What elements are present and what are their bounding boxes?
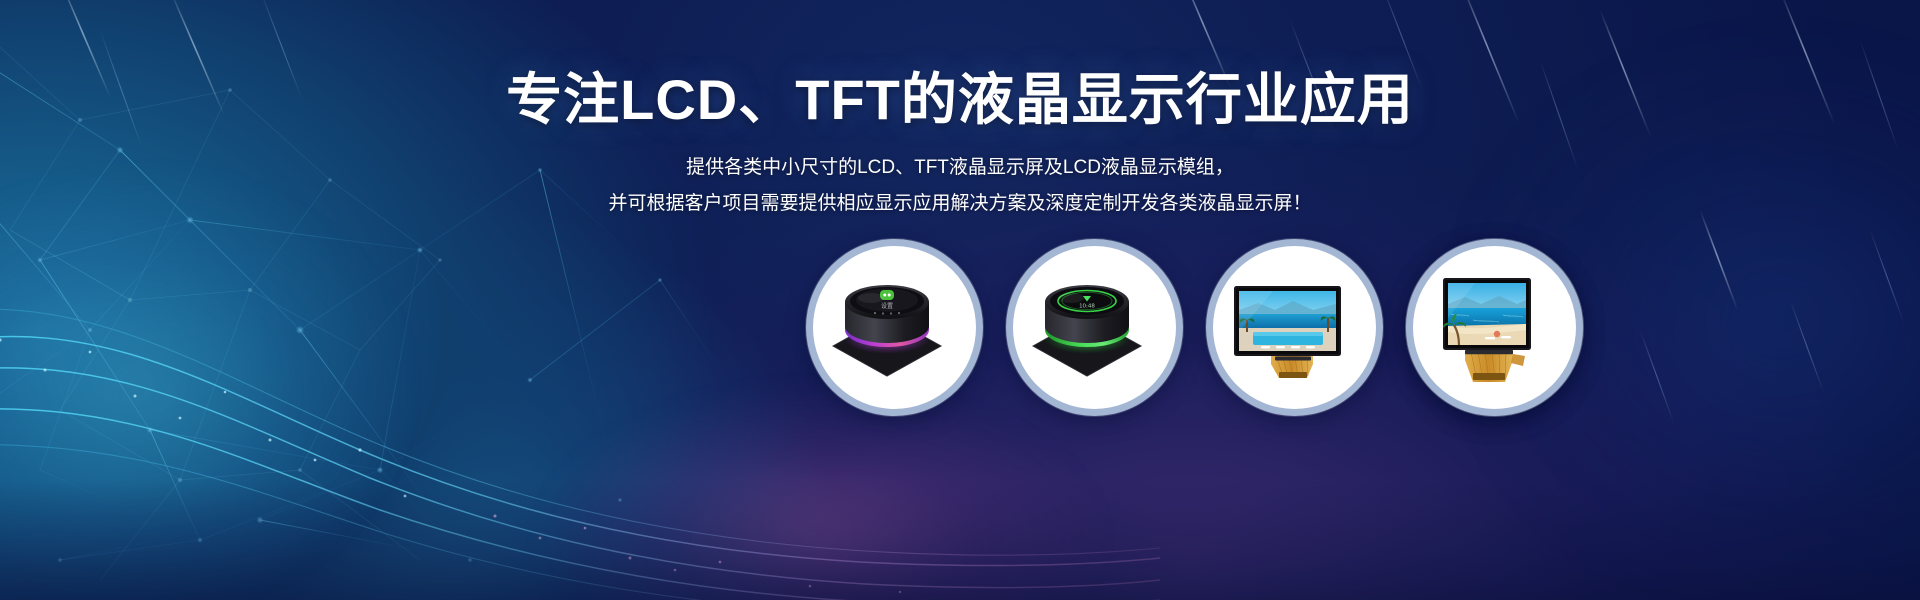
tft-lcd-display-touch-icon (1413, 246, 1562, 395)
product-circle-5[interactable] (1406, 239, 1583, 416)
product-circle-row: 设置 (303, 239, 1920, 409)
subtitle-line-1: 提供各类中小尺寸的LCD、TFT液晶显示屏及LCD液晶显示模组， (0, 129, 1920, 185)
svg-text:10:48: 10:48 (1079, 304, 1095, 310)
round-smart-speaker-green-icon: 10:48 (1013, 246, 1162, 395)
product-circle-2[interactable]: 10:48 (1006, 239, 1183, 416)
hero-banner: 专注LCD、TFT的液晶显示行业应用 提供各类中小尺寸的LCD、TFT液晶显示屏… (0, 0, 1920, 600)
banner-text-block: 专注LCD、TFT的液晶显示行业应用 提供各类中小尺寸的LCD、TFT液晶显示屏… (0, 0, 1920, 221)
subtitle-line-2: 并可根据客户项目需要提供相应显示应用解决方案及深度定制开发各类液晶显示屏！ (0, 185, 1920, 221)
product-circle-3[interactable] (1206, 239, 1383, 416)
tft-lcd-display-widescreen-icon (1213, 246, 1362, 395)
product-circle-1[interactable]: 设置 (806, 239, 983, 416)
bottom-fade-decoration (0, 480, 1920, 600)
svg-text:设置: 设置 (881, 302, 893, 310)
page-title: 专注LCD、TFT的液晶显示行业应用 (0, 0, 1920, 129)
round-smart-speaker-purple-icon: 设置 (813, 246, 962, 395)
